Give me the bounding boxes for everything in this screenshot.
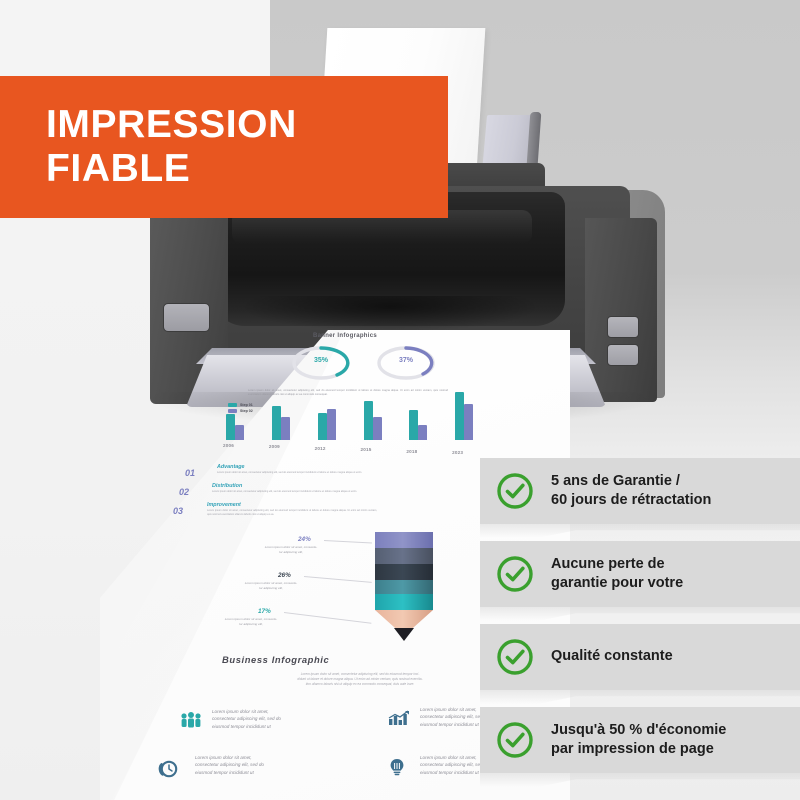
printer-right-button-bottom[interactable] xyxy=(607,344,639,366)
list-heading-improvement: Improvement xyxy=(207,502,241,508)
funnel-text-1: Lorem ipsum dolor sit amet, consecte- tu… xyxy=(232,581,310,590)
bar-2015-step-02 xyxy=(373,417,382,440)
bar-year-2018: 2018 xyxy=(406,449,417,454)
printer-right-panel xyxy=(585,218,657,402)
list-heading-distribution: Distribution xyxy=(212,483,242,489)
funnel-percent-24: 24% xyxy=(298,536,311,543)
feature-box-3[interactable]: Qualité constante xyxy=(480,624,800,690)
donut-1-value: 35% xyxy=(290,357,352,364)
feature-box-label-3: Qualité constante xyxy=(551,647,673,666)
check-circle-icon xyxy=(496,638,534,676)
bottom-feature-text-3: Lorem ipsum dolor sit amet, consectetur … xyxy=(420,754,489,776)
business-infographic-paragraph: Lorem ipsum dolor sit amet, consectetur … xyxy=(200,672,520,687)
bar-2012-step-02 xyxy=(327,409,336,440)
headline-line-1: IMPRESSION xyxy=(46,103,448,147)
list-body-03: Lorem ipsum dolor sit amet, consectetur … xyxy=(207,509,377,517)
printer-drum-shadow xyxy=(240,296,540,332)
business-infographic-title: Business Infographic xyxy=(222,654,329,665)
bar-2018-step-01 xyxy=(409,410,418,440)
list-heading-advantage: Advantage xyxy=(217,464,245,470)
feature-box-1[interactable]: 5 ans de Garantie / 60 jours de rétracta… xyxy=(480,458,800,524)
infographic-header: Banner Infographics xyxy=(270,333,420,339)
printer-left-button[interactable] xyxy=(163,303,210,332)
list-index-02: 02 xyxy=(179,487,189,497)
bar-chart xyxy=(220,390,495,440)
bar-2023-step-01 xyxy=(455,392,464,440)
donut-chart-2: 37% xyxy=(375,344,437,382)
lightbulb-icon xyxy=(388,758,406,781)
bar-2009-step-01 xyxy=(272,406,281,440)
funnel-leader-line-0 xyxy=(324,540,372,544)
bar-year-2006: 2006 xyxy=(223,443,234,448)
donut-2-value: 37% xyxy=(375,357,437,364)
people-group-icon xyxy=(180,712,202,733)
bar-2009-step-02 xyxy=(281,417,290,441)
feature-box-label-4: Jusqu'à 50 % d'économie par impression d… xyxy=(551,721,726,760)
feature-box-label-1: 5 ans de Garantie / 60 jours de rétracta… xyxy=(551,472,711,511)
funnel-text-0: Lorem ipsum dolor sit amet, consecte- tu… xyxy=(252,545,330,554)
headline-line-2: FIABLE xyxy=(46,147,448,191)
list-index-01: 01 xyxy=(185,468,195,478)
check-circle-icon xyxy=(496,721,534,759)
bar-year-2012: 2012 xyxy=(315,446,326,451)
list-index-03: 03 xyxy=(173,506,183,516)
clock-icon xyxy=(158,760,180,783)
donut-chart-1: 35% xyxy=(290,344,352,382)
printer-right-button-top[interactable] xyxy=(607,316,639,338)
bar-year-2015: 2015 xyxy=(361,447,372,452)
check-circle-icon xyxy=(496,472,534,510)
bar-2018-step-02 xyxy=(418,425,427,440)
bar-2012-step-01 xyxy=(318,413,327,441)
funnel-percent-26: 26% xyxy=(278,572,291,579)
bar-year-2023: 2023 xyxy=(452,450,463,455)
promo-image-stage: Banner Infographics 35% 37% Lorem ipsum … xyxy=(0,0,800,800)
bottom-feature-text-0: Lorem ipsum dolor sit amet, consectetur … xyxy=(212,708,281,730)
feature-box-label-2: Aucune perte de garantie pour votre xyxy=(551,555,683,594)
list-body-02: Lorem ipsum dolor sit amet, consectetur … xyxy=(212,490,382,494)
funnel-text-2: Lorem ipsum dolor sit amet, consecte- tu… xyxy=(212,617,290,626)
bar-2015-step-01 xyxy=(364,401,373,440)
feature-box-4[interactable]: Jusqu'à 50 % d'économie par impression d… xyxy=(480,707,800,773)
bar-2006-step-01 xyxy=(226,414,235,440)
bottom-feature-text-1: Lorem ipsum dolor sit amet, consectetur … xyxy=(420,706,489,728)
feature-box-2[interactable]: Aucune perte de garantie pour votre xyxy=(480,541,800,607)
list-body-01: Lorem ipsum dolor sit amet, consectetur … xyxy=(217,471,387,475)
bottom-feature-text-2: Lorem ipsum dolor sit amet, consectetur … xyxy=(195,754,264,776)
growth-chart-icon xyxy=(388,710,410,731)
bar-2006-step-02 xyxy=(235,425,244,440)
funnel-percent-17: 17% xyxy=(258,608,271,615)
funnel-leader-line-2 xyxy=(284,612,371,624)
funnel-leader-line-1 xyxy=(304,576,372,583)
check-circle-icon xyxy=(496,555,534,593)
headline-banner: IMPRESSION FIABLE xyxy=(0,76,448,218)
bar-year-2009: 2009 xyxy=(269,444,280,449)
bar-2023-step-02 xyxy=(464,404,473,440)
